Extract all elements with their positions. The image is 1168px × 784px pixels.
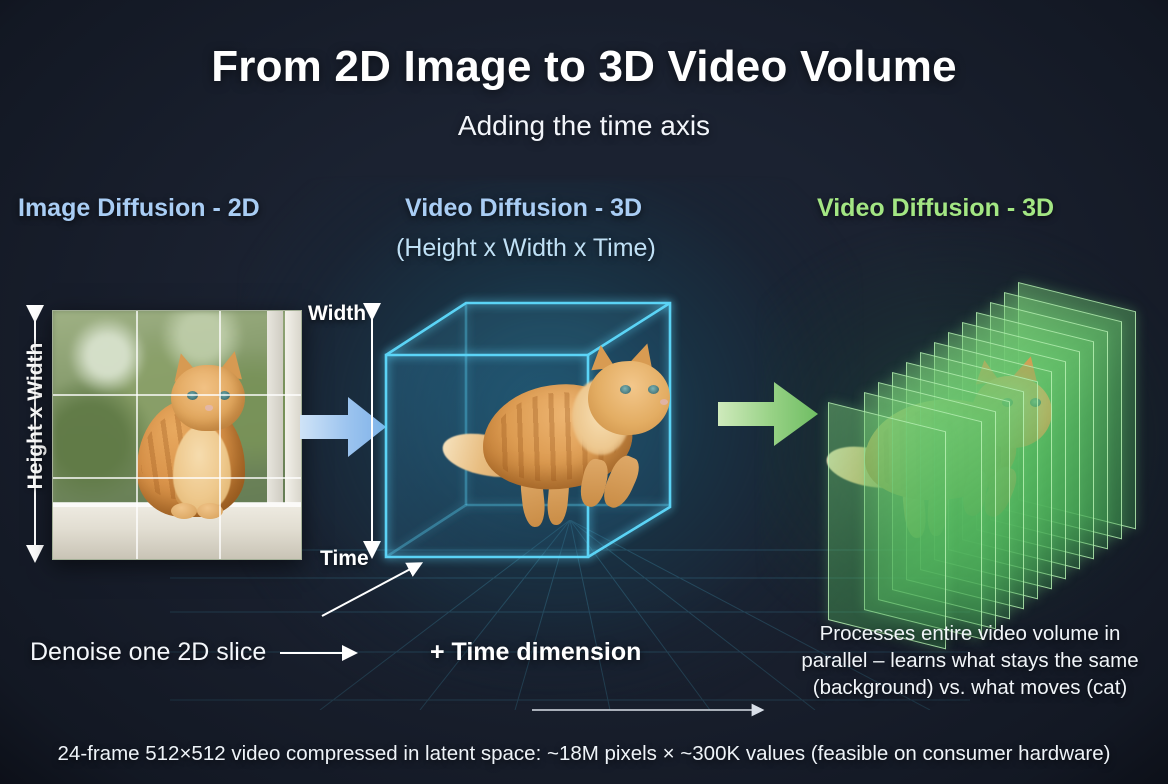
caption-parallel-processing: Processes entire video volume in paralle… bbox=[775, 620, 1165, 701]
cat-eye-right bbox=[219, 391, 230, 400]
cat-nose bbox=[205, 405, 213, 411]
cat-nose bbox=[660, 399, 668, 405]
cat-head bbox=[171, 365, 245, 431]
width-axis-label: Width bbox=[308, 302, 366, 326]
cat-paw-left bbox=[171, 503, 197, 519]
page-subtitle: Adding the time axis bbox=[0, 110, 1168, 142]
video-slice-front bbox=[828, 402, 946, 649]
caption-denoise: Denoise one 2D slice bbox=[30, 638, 266, 667]
arrow-diagonal-to-cube-icon bbox=[320, 560, 430, 620]
cat-eye-left bbox=[187, 391, 198, 400]
video-slice-stack bbox=[800, 278, 1168, 608]
column-heading-video-diffusion-cube: Video Diffusion - 3D bbox=[405, 194, 642, 223]
column-subheading-dimensions: (Height x Width x Time) bbox=[396, 234, 656, 263]
jumping-cat bbox=[460, 343, 678, 533]
height-width-axis: Height x Width bbox=[14, 300, 56, 568]
caption-line-2: parallel – learns what stays the same bbox=[775, 647, 1165, 674]
cat-eye-left bbox=[620, 385, 631, 394]
column-heading-video-diffusion-stack: Video Diffusion - 3D bbox=[817, 194, 1054, 223]
caption-time-dimension: + Time dimension bbox=[430, 638, 641, 667]
arrow-bottom-horizontal-icon bbox=[530, 700, 770, 720]
sitting-cat bbox=[131, 357, 251, 517]
arrow-denoise-to-time-icon bbox=[278, 640, 360, 666]
cat-photo bbox=[53, 311, 301, 559]
footer-caption: 24-frame 512×512 video compressed in lat… bbox=[0, 742, 1168, 766]
image-2d-panel bbox=[52, 310, 302, 560]
height-width-axis-label: Height x Width bbox=[24, 332, 48, 500]
cat-paw-right bbox=[197, 503, 223, 519]
caption-line-1: Processes entire video volume in bbox=[775, 620, 1165, 647]
column-heading-image-diffusion: Image Diffusion - 2D bbox=[18, 194, 260, 223]
page-title: From 2D Image to 3D Video Volume bbox=[0, 42, 1168, 92]
cat-eye-right bbox=[648, 385, 659, 394]
caption-line-3: (background) vs. what moves (cat) bbox=[775, 674, 1165, 701]
